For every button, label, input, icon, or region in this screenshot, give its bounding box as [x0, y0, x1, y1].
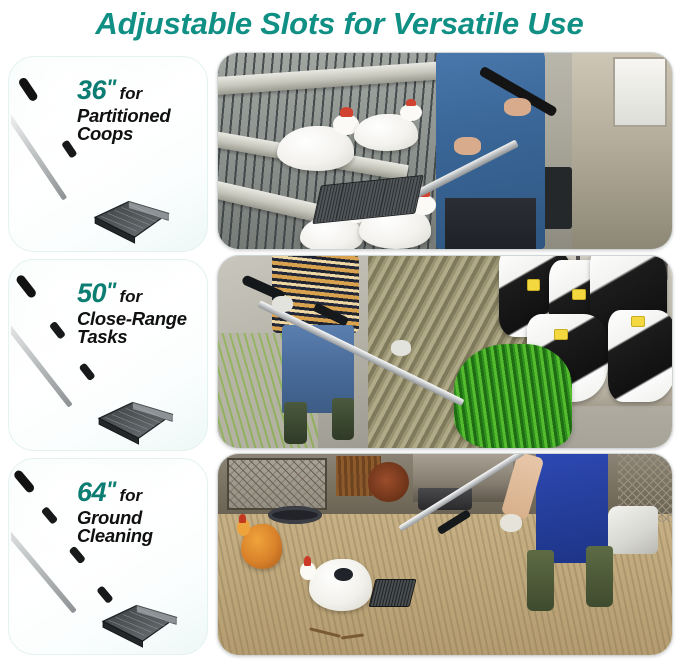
white-chicken — [309, 559, 373, 611]
infographic-page: Adjustable Slots for Versatile Use — [0, 0, 679, 661]
spec-card-36in: 36"for Partitioned Coops — [8, 56, 208, 252]
spec-text-64in: 64"for Ground Cleaning — [77, 479, 199, 546]
handler-legs — [445, 198, 536, 250]
scooper-head — [369, 579, 417, 607]
spec-text-50in: 50"for Close-Range Tasks — [77, 280, 199, 347]
rusty-drum — [368, 462, 409, 502]
worker-boot — [527, 550, 554, 610]
spec-desc-50in: Close-Range Tasks — [77, 310, 199, 348]
worker-glove — [500, 514, 523, 532]
spec-card-64in: 64"for Ground Cleaning — [8, 458, 208, 655]
wire-fence-panel — [227, 458, 327, 510]
spec-desc-36in: Partitioned Coops — [77, 107, 199, 145]
farmer-boot — [332, 398, 355, 440]
photo-chicken-coop-scene — [218, 53, 672, 249]
worker-boot — [586, 546, 613, 606]
white-hen — [354, 114, 418, 151]
photo-dairy-barn — [217, 255, 673, 449]
cow-ear-tag — [554, 329, 568, 341]
fresh-grass-pile — [454, 344, 572, 448]
spec-connector-50in: for — [119, 287, 142, 306]
orange-chicken — [241, 524, 282, 568]
handler-hand-lower — [454, 137, 481, 155]
spec-connector-36in: for — [119, 84, 142, 103]
cow-ear-tag — [631, 316, 645, 328]
white-hen — [277, 126, 354, 171]
farmer-boot — [284, 402, 307, 444]
spec-desc-64in: Ground Cleaning — [77, 509, 199, 547]
photo-dairy-barn-scene — [218, 256, 672, 448]
cow-ear-tag — [572, 289, 586, 301]
spec-connector-64in: for — [119, 486, 142, 505]
spec-text-36in: 36"for Partitioned Coops — [77, 77, 199, 144]
white-feed-sack — [608, 506, 658, 554]
barn-window — [613, 57, 667, 128]
farmer-hand-upper — [272, 296, 292, 311]
spec-card-50in: 50"for Close-Range Tasks — [8, 259, 208, 451]
farmer-hand-lower — [391, 340, 411, 355]
photo-farmyard — [217, 453, 673, 656]
spec-size-64in: 64" — [77, 477, 116, 507]
photo-chicken-coop — [217, 52, 673, 250]
photo-farmyard-scene — [218, 454, 672, 655]
chicken-wing-marking — [334, 568, 353, 582]
cow-ear-tag — [527, 279, 541, 291]
spec-size-50in: 50" — [77, 278, 116, 308]
page-title: Adjustable Slots for Versatile Use — [0, 2, 679, 46]
handler-hand-upper — [504, 98, 531, 116]
spec-size-36in: 36" — [77, 75, 116, 105]
